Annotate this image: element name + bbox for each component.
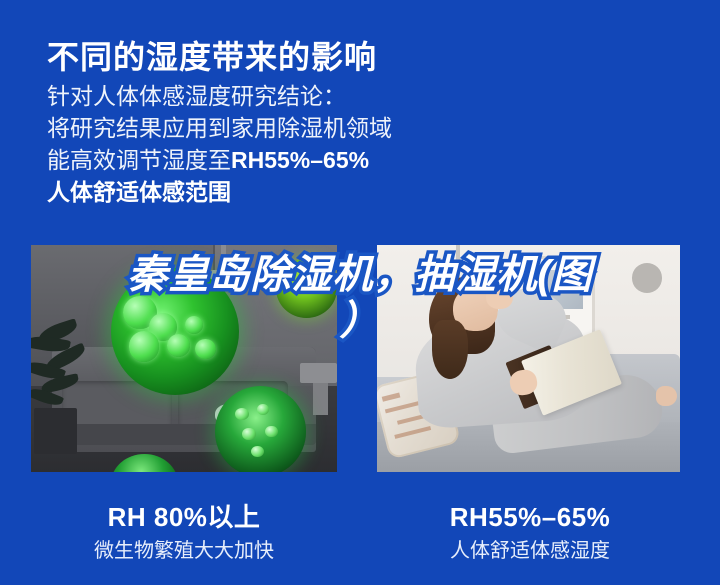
microbe-cluster-small-icon: [276, 259, 337, 318]
microbe-dot: [185, 316, 203, 334]
caption-left: RH 80%以上 微生物繁殖大大加快: [31, 500, 337, 566]
microbe-dot: [235, 408, 250, 421]
pillow-pattern-stripe: [382, 392, 400, 401]
microbe-cluster-lower-icon: [215, 386, 307, 472]
caption-right: RH55%–65% 人体舒适体感湿度: [377, 500, 683, 566]
microbe-dot: [265, 426, 278, 438]
photo-right-comfort-humidity: [377, 245, 680, 472]
photo-left-high-humidity: [31, 245, 337, 472]
left-lamp-shade: [210, 270, 247, 281]
body-line-1: 针对人体体感湿度研究结论：: [47, 80, 517, 112]
caption-left-subtitle: 微生物繁殖大大加快: [31, 536, 337, 566]
microbe-dot: [195, 339, 216, 359]
microbe-dot: [129, 331, 160, 362]
body-line-4: 人体舒适体感范围: [47, 176, 517, 208]
poster-root: 不同的湿度带来的影响 针对人体体感湿度研究结论： 将研究结果应用到家用除湿机领域…: [0, 0, 720, 585]
body-line-3-value: RH55%–65%: [231, 147, 369, 173]
woman-foot: [656, 386, 677, 406]
microbe-cluster-large-icon: [111, 268, 240, 395]
left-plant: [31, 322, 98, 417]
body-line-3: 能高效调节湿度至RH55%–65%: [47, 144, 517, 176]
caption-right-subtitle: 人体舒适体感湿度: [377, 536, 683, 566]
microbe-dot: [242, 428, 256, 441]
microbe-dot: [257, 404, 269, 415]
left-lamp-cord: [221, 245, 226, 272]
caption-right-title: RH55%–65%: [377, 500, 683, 534]
pillow-pattern-stripe: [395, 426, 431, 438]
body-line-3-prefix: 能高效调节湿度至: [47, 147, 231, 173]
woman-hand-at-forehead: [486, 284, 513, 309]
page-title: 不同的湿度带来的影响: [47, 37, 377, 77]
body-copy-block: 针对人体体感湿度研究结论： 将研究结果应用到家用除湿机领域 能高效调节湿度至RH…: [47, 80, 517, 208]
left-side-table-leg: [313, 383, 328, 415]
body-line-2: 将研究结果应用到家用除湿机领域: [47, 112, 517, 144]
right-lamp-cord: [456, 245, 460, 281]
microbe-dot: [167, 334, 190, 357]
left-side-table: [300, 363, 337, 383]
microbe-dot: [251, 446, 264, 457]
caption-left-title: RH 80%以上: [31, 500, 337, 534]
woman-hair-strand: [432, 320, 468, 379]
right-wall-speaker-icon: [632, 263, 662, 293]
